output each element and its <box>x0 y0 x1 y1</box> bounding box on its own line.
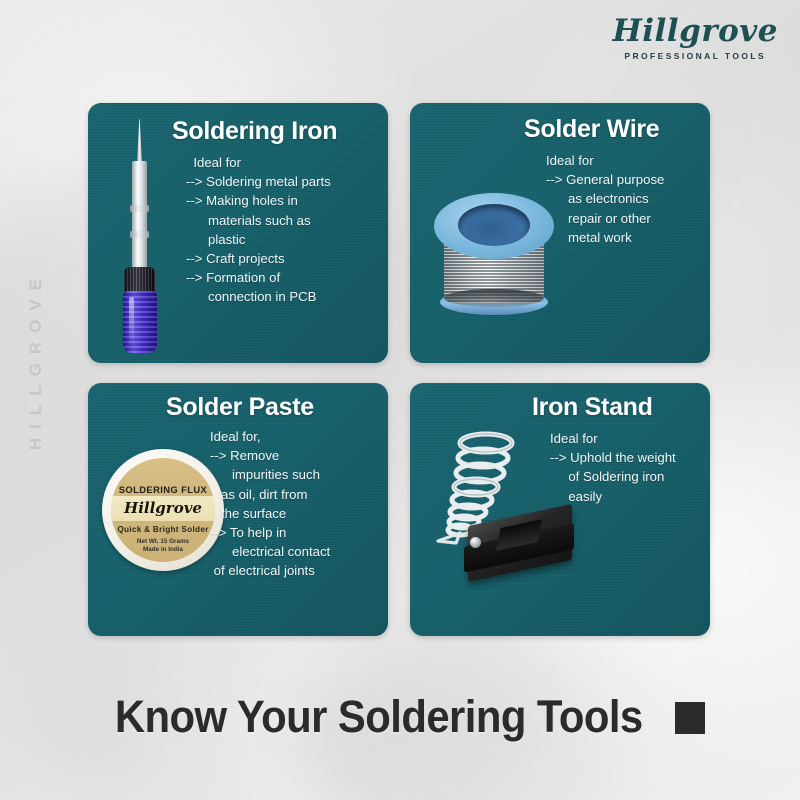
card-body: SOLDERING FLUX Hillgrove Quick & Bright … <box>88 383 388 636</box>
footer-headline-text: Know Your Soldering Tools <box>115 692 643 742</box>
solder-wire-spool-icon <box>432 193 556 321</box>
card-description: Ideal for --> Soldering metal parts --> … <box>186 153 331 307</box>
tin-label-tagline: Quick & Bright Solder <box>111 525 215 534</box>
card-title: Iron Stand <box>532 393 653 422</box>
product-card-soldering-iron: Soldering Iron Ideal for --> Soldering m… <box>88 103 388 363</box>
spool-wire-shadow <box>444 289 544 307</box>
card-description: Ideal for --> Uphold the weight of Solde… <box>550 429 676 506</box>
card-body: Soldering Iron Ideal for --> Soldering m… <box>88 103 388 363</box>
product-card-grid: Soldering Iron Ideal for --> Soldering m… <box>88 103 710 636</box>
card-title: Soldering Iron <box>172 117 337 146</box>
product-card-iron-stand: Iron Stand Ideal for --> Uphold the weig… <box>410 383 710 636</box>
flux-tin-icon: SOLDERING FLUX Hillgrove Quick & Bright … <box>102 449 224 571</box>
tin-label-brand: Hillgrove <box>111 499 215 517</box>
iron-barrel <box>132 161 147 271</box>
iron-handle-highlight <box>129 297 134 347</box>
tin-label: SOLDERING FLUX Hillgrove Quick & Bright … <box>111 458 215 562</box>
soldering-iron-icon <box>112 119 168 351</box>
card-description: Ideal for, --> Remove impurities such as… <box>210 427 330 581</box>
brand-logo-tagline: PROFESSIONAL TOOLS <box>612 51 778 61</box>
brand-logo: Hillgrove PROFESSIONAL TOOLS <box>612 14 778 61</box>
vertical-brand-text: HILLGROVE <box>26 270 46 450</box>
card-title: Solder Paste <box>166 393 314 422</box>
product-card-solder-wire: Solder Wire Ideal for --> General purpos… <box>410 103 710 363</box>
card-title: Solder Wire <box>524 115 659 144</box>
product-card-solder-paste: SOLDERING FLUX Hillgrove Quick & Bright … <box>88 383 388 636</box>
tin-label-product: SOLDERING FLUX <box>111 484 215 495</box>
card-body: Iron Stand Ideal for --> Uphold the weig… <box>410 383 710 636</box>
brand-logo-wordmark: Hillgrove <box>612 14 778 48</box>
card-description: Ideal for --> General purpose as electro… <box>546 151 664 247</box>
spool-center-hole <box>458 204 530 246</box>
footer-headline: Know Your Soldering Tools <box>0 692 800 742</box>
tin-label-weight: Net Wt. 15 Grams Made in India <box>111 538 215 554</box>
card-body: Solder Wire Ideal for --> General purpos… <box>410 103 710 363</box>
iron-tip <box>137 119 142 165</box>
iron-ring <box>130 231 149 238</box>
iron-ring <box>130 205 149 212</box>
footer-square-accent <box>675 702 705 734</box>
stand-screw <box>470 537 481 548</box>
